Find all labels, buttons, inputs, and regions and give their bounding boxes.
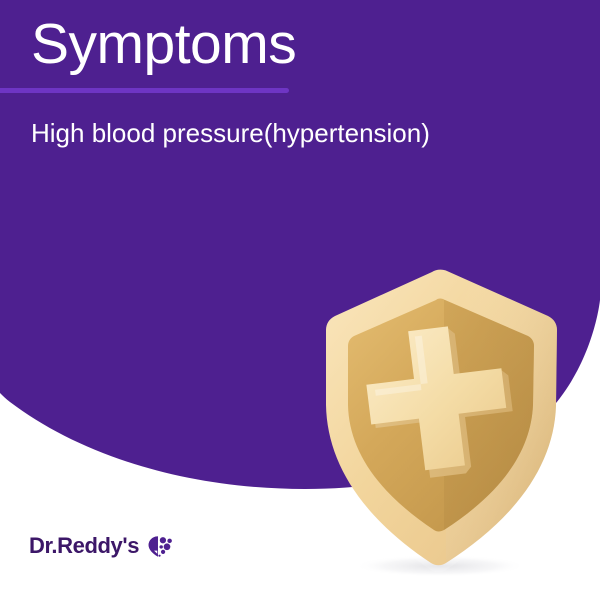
heart-dot-3 [164,543,171,550]
heart-dot-2 [167,538,172,543]
heart-dot-5 [161,549,165,553]
shield-icon [300,258,590,588]
title-underline-rule [0,88,289,93]
heart-dot-4 [159,545,162,548]
page-subtitle: High blood pressure(hypertension) [31,118,430,149]
heart-left-lobe-fill [149,536,158,556]
brand-logo: Dr.Reddy's [29,530,175,562]
heart-dot-6 [158,554,160,556]
dr-reddys-heart-dots-mark [143,534,175,559]
symptoms-info-card: Symptoms High blood pressure(hypertensio… [0,0,600,600]
heart-dot-1 [160,537,166,543]
brand-wordmark: Dr.Reddy's [29,535,139,557]
page-title: Symptoms [31,15,296,75]
